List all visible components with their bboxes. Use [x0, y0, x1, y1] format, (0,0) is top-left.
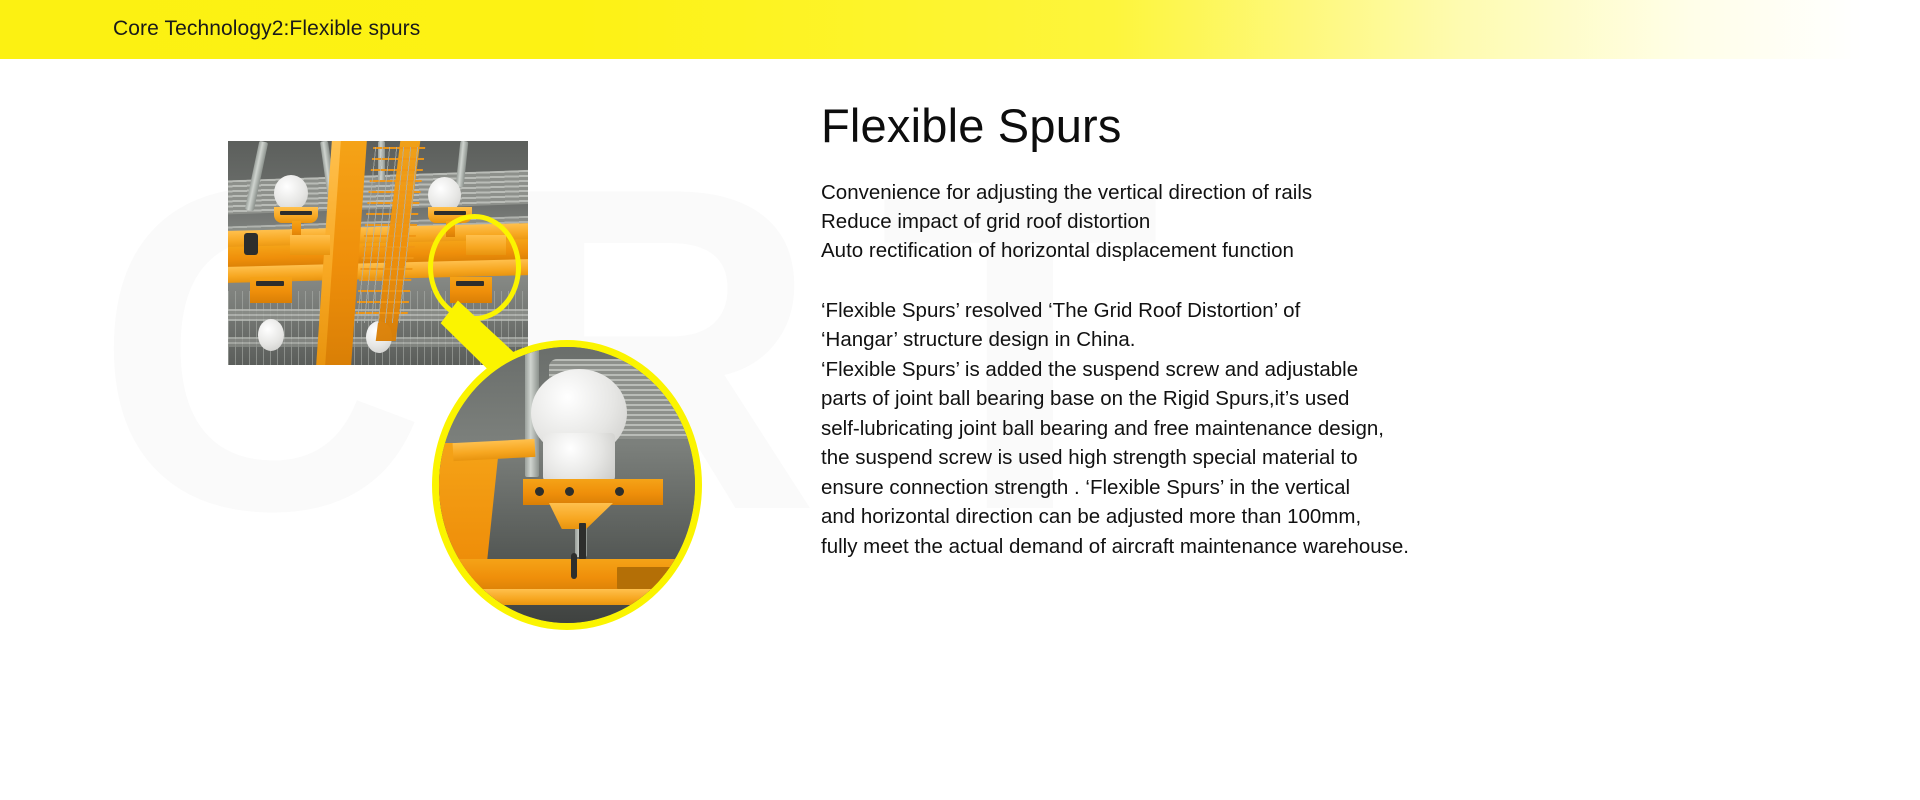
content-column: Flexible Spurs Convenience for adjusting…: [821, 100, 1901, 561]
spur-bolt-row-right: [434, 211, 466, 215]
description-paragraph: ‘Flexible Spurs’ resolved ‘The Grid Roof…: [821, 296, 1901, 562]
detail-girder-panel: [617, 567, 683, 589]
trolley-box-left: [290, 235, 330, 255]
header-banner: Core Technology2:Flexible spurs: [0, 0, 1920, 59]
description-line: the suspend screw is used high strength …: [821, 443, 1901, 473]
figure-area: [0, 59, 810, 800]
trolley-motor-left: [244, 233, 258, 255]
detail-bracket-bolt-3: [615, 487, 624, 496]
detail-lower-girder-flange: [432, 589, 702, 605]
page-title: Core Technology2:Flexible spurs: [113, 17, 420, 41]
crane-detail-zoom-photo: [432, 340, 702, 630]
detail-white-pedestal: [543, 433, 615, 481]
description-line: ‘Hangar’ structure design in China.: [821, 325, 1901, 355]
feature-item: Convenience for adjusting the vertical d…: [821, 178, 1901, 207]
description-line: and horizontal direction can be adjusted…: [821, 502, 1901, 532]
main-heading: Flexible Spurs: [821, 100, 1901, 152]
crane-detail-scene: [439, 347, 695, 623]
description-line: ensure connection strength . ‘Flexible S…: [821, 473, 1901, 503]
description-line: fully meet the actual demand of aircraft…: [821, 532, 1901, 562]
description-line: parts of joint ball bearing base on the …: [821, 384, 1901, 414]
trolley-wheel-left: [256, 281, 284, 286]
detail-joint-bracket: [523, 479, 663, 505]
callout-circle-highlight: [428, 214, 521, 321]
description-line: self-lubricating joint ball bearing and …: [821, 414, 1901, 444]
detail-bracket-bolt-1: [535, 487, 544, 496]
white-sphere-bottom-left: [258, 319, 284, 351]
detail-bracket-bolt-2: [565, 487, 574, 496]
white-sphere-left: [274, 175, 308, 211]
feature-list: Convenience for adjusting the vertical d…: [821, 178, 1901, 265]
spur-bolt-row-left: [280, 211, 312, 215]
detail-suspend-screw: [579, 523, 586, 559]
feature-item: Auto rectification of horizontal displac…: [821, 236, 1901, 265]
detail-cable-hook: [571, 553, 577, 579]
description-line: ‘Flexible Spurs’ is added the suspend sc…: [821, 355, 1901, 385]
description-line: ‘Flexible Spurs’ resolved ‘The Grid Roof…: [821, 296, 1901, 326]
feature-item: Reduce impact of grid roof distortion: [821, 207, 1901, 236]
